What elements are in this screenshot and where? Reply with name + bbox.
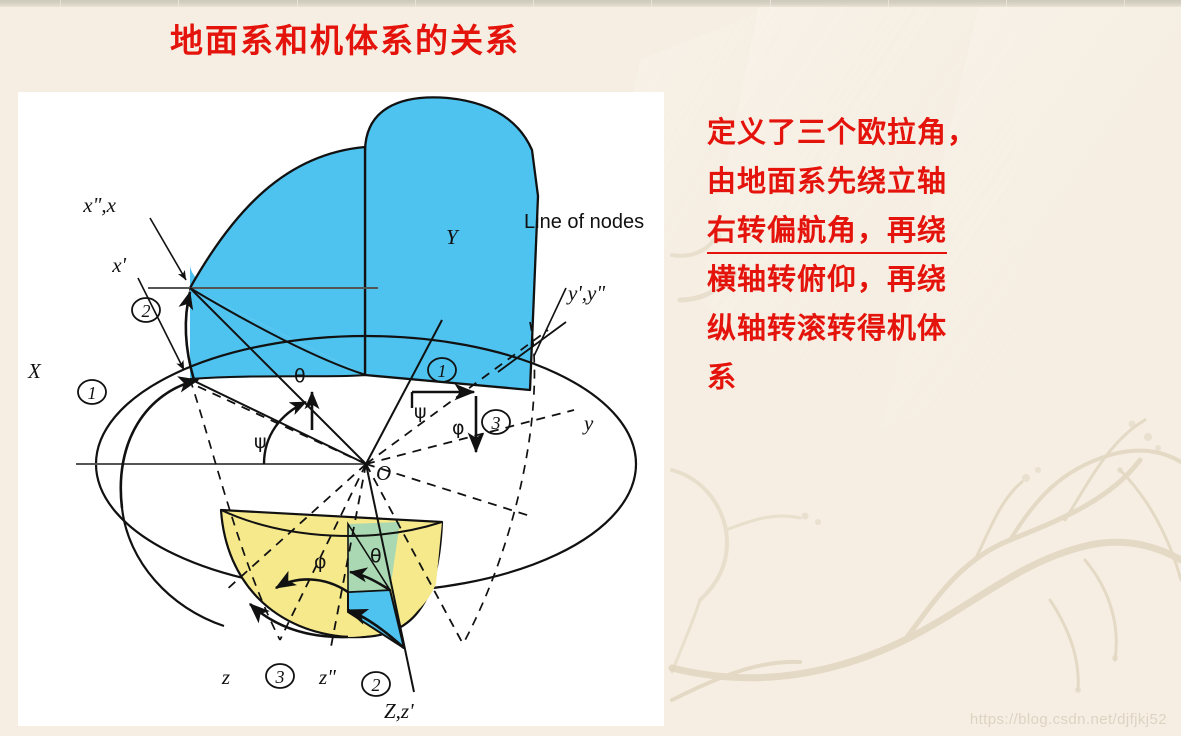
- annotation-line-5: 系: [707, 353, 1137, 402]
- annotation-line-0: 定义了三个欧拉角，: [707, 108, 1137, 157]
- label-phi-right: φ: [452, 417, 465, 439]
- label-x2-x: x",x: [82, 193, 116, 217]
- watermark: https://blog.csdn.net/djfjkj52: [970, 711, 1167, 728]
- annotation-line-4: 纵轴转滚转得机体: [707, 304, 1137, 353]
- step-badge-1-right-label: 1: [438, 361, 447, 381]
- label-X: X: [27, 359, 42, 383]
- annotation-line-1: 由地面系先绕立轴: [707, 157, 1137, 206]
- annotation-line-2: 右转偏航角，再绕: [707, 208, 947, 254]
- label-phi-bottom: φ: [314, 551, 327, 573]
- label-x1: x': [111, 253, 126, 277]
- label-y: y: [582, 411, 594, 435]
- label-z2: z": [318, 665, 336, 689]
- page-title: 地面系和机体系的关系: [0, 14, 690, 62]
- step-badge-2-top-label: 2: [142, 301, 151, 321]
- label-psi-left: ψ: [254, 431, 267, 453]
- label-theta-bottom: θ: [370, 545, 382, 567]
- label-psi-right: ψ: [414, 401, 427, 423]
- step-badge-1-left-label: 1: [88, 383, 97, 403]
- slide-top-strip: [0, 0, 1181, 7]
- label-z: z: [221, 665, 230, 689]
- label-Z-z1: Z,z': [384, 699, 414, 723]
- annotation-text: 定义了三个欧拉角， 由地面系先绕立轴 右转偏航角，再绕 横轴转俯仰，再绕 纵轴转…: [707, 108, 1137, 402]
- label-y1-y2: y',y": [566, 281, 605, 305]
- step-badge-3-bottom-label: 3: [275, 667, 285, 687]
- label-origin: O: [376, 461, 391, 485]
- label-line-of-nodes: Line of nodes: [524, 211, 644, 233]
- figure-panel: 2 1 1 3 3 2 x",x x' X Y Line of nodes y'…: [18, 92, 664, 726]
- label-theta-left: θ: [294, 365, 306, 387]
- annotation-line-3: 横轴转俯仰，再绕: [707, 255, 1137, 304]
- step-badge-3-right-label: 3: [491, 413, 501, 433]
- step-badge-2-bottom-label: 2: [372, 675, 381, 695]
- euler-angles-diagram: 2 1 1 3 3 2 x",x x' X Y Line of nodes y'…: [18, 92, 664, 726]
